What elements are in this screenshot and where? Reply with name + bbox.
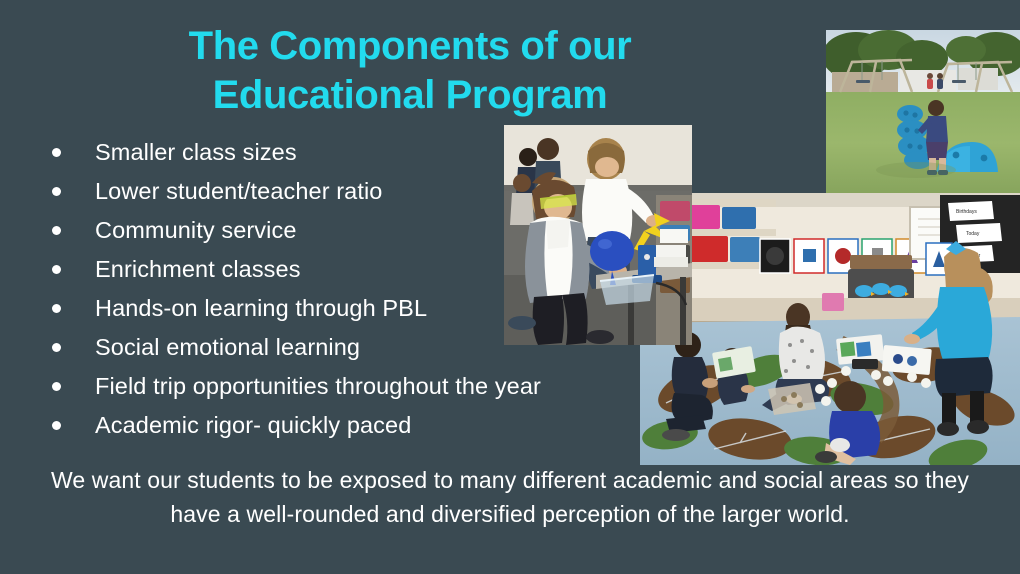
list-item-label: Field trip opportunities throughout the … bbox=[95, 367, 541, 406]
list-item-label: Smaller class sizes bbox=[95, 133, 297, 172]
bullet-dot-icon bbox=[52, 187, 61, 196]
list-item: Social emotional learning bbox=[52, 328, 672, 367]
classroom-photo-art: Birthdays Today Calendar Wlecome bbox=[640, 193, 1020, 465]
slide-canvas: The Components of our Educational Progra… bbox=[0, 0, 1020, 574]
svg-text:Today: Today bbox=[966, 231, 980, 237]
bullet-dot-icon bbox=[52, 421, 61, 430]
list-item-label: Hands-on learning through PBL bbox=[95, 289, 427, 328]
bullet-dot-icon bbox=[52, 148, 61, 157]
summary-paragraph: We want our students to be exposed to ma… bbox=[40, 464, 980, 532]
list-item-label: Academic rigor- quickly paced bbox=[95, 406, 411, 445]
list-item-label: Lower student/teacher ratio bbox=[95, 172, 382, 211]
list-item-label: Social emotional learning bbox=[95, 328, 360, 367]
bullet-dot-icon bbox=[52, 382, 61, 391]
bullet-dot-icon bbox=[52, 304, 61, 313]
list-item: Enrichment classes bbox=[52, 250, 672, 289]
list-item-label: Enrichment classes bbox=[95, 250, 301, 289]
svg-text:Birthdays: Birthdays bbox=[956, 209, 977, 215]
playground-photo-art bbox=[826, 30, 1020, 194]
list-item: Hands-on learning through PBL bbox=[52, 289, 672, 328]
title-line-2: Educational Program bbox=[60, 71, 760, 120]
title-line-1: The Components of our bbox=[60, 22, 760, 71]
list-item: Field trip opportunities throughout the … bbox=[52, 367, 672, 406]
list-item: Academic rigor- quickly paced bbox=[52, 406, 672, 445]
page-title: The Components of our Educational Progra… bbox=[60, 22, 760, 120]
classroom-circle-photo: Birthdays Today Calendar Wlecome bbox=[640, 193, 1020, 465]
bullet-dot-icon bbox=[52, 226, 61, 235]
bullet-dot-icon bbox=[52, 265, 61, 274]
playground-photo bbox=[826, 30, 1020, 194]
list-item: Smaller class sizes bbox=[52, 133, 672, 172]
bullet-dot-icon bbox=[52, 343, 61, 352]
list-item: Community service bbox=[52, 211, 672, 250]
components-bullet-list: Smaller class sizes Lower student/teache… bbox=[52, 133, 672, 445]
list-item: Lower student/teacher ratio bbox=[52, 172, 672, 211]
list-item-label: Community service bbox=[95, 211, 297, 250]
